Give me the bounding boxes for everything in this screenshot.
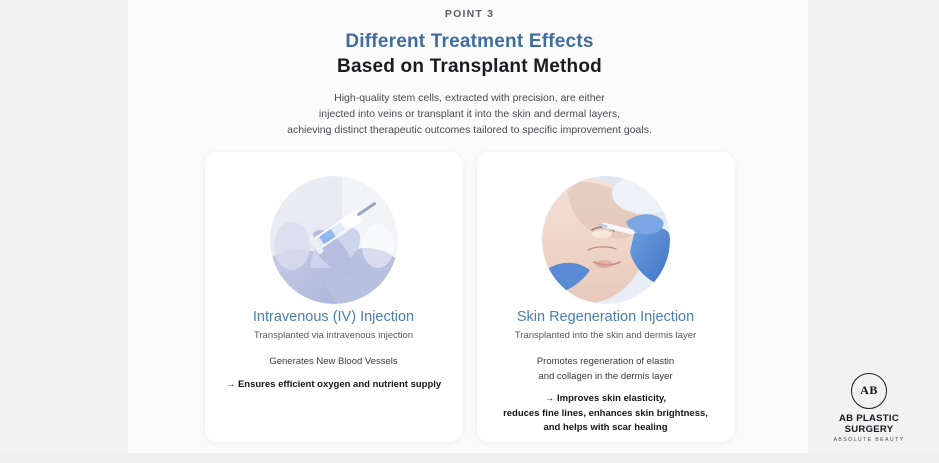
logo-name: AB PLASTIC SURGERY <box>817 413 921 435</box>
card-body-strong-line: reduces fine lines, enhances skin bright… <box>487 407 724 422</box>
card-body-strong-line: and helps with scar healing <box>487 421 724 436</box>
slide-root: POINT 3 Different Treatment Effects Base… <box>0 0 939 463</box>
card-body-strong-line: → Ensures efficient oxygen and nutrient … <box>215 378 452 393</box>
card-body-plain-line: and collagen in the dermis layer <box>487 370 724 385</box>
card-subtitle: Transplanted via intravenous injection <box>205 330 462 341</box>
card-body-strong-line: → Improves skin elasticity, <box>487 392 724 407</box>
logo-monogram-text: AB <box>852 383 886 398</box>
intro-paragraph: High-quality stem cells, extracted with … <box>0 90 939 138</box>
point-label: POINT 3 <box>0 8 939 20</box>
card-body: Generates New Blood Vessels → Ensures ef… <box>215 355 452 392</box>
title-line-1: Different Treatment Effects <box>0 31 939 53</box>
card-title: Intravenous (IV) Injection <box>205 309 462 325</box>
card-body-plain-line: Generates New Blood Vessels <box>215 355 452 370</box>
card-subtitle: Transplanted into the skin and dermis la… <box>477 330 734 341</box>
intro-line-1: High-quality stem cells, extracted with … <box>0 90 939 106</box>
intro-line-2: injected into veins or transplant it int… <box>0 106 939 122</box>
card-title: Skin Regeneration Injection <box>477 309 734 325</box>
title-line-2: Based on Transplant Method <box>0 56 939 78</box>
card-skin-regeneration-injection: Skin Regeneration Injection Transplanted… <box>477 152 734 442</box>
ab-monogram-icon: AB <box>851 373 887 409</box>
card-intravenous-injection: Intravenous (IV) Injection Transplanted … <box>205 152 462 442</box>
cards-row: Intravenous (IV) Injection Transplanted … <box>0 152 939 442</box>
card-body-plain-line: Promotes regeneration of elastin <box>487 355 724 370</box>
logo-tagline: ABSOLUTE BEAUTY <box>817 437 921 443</box>
card-body: Promotes regeneration of elastin and col… <box>487 355 724 436</box>
syringe-in-gloved-hands-photo <box>270 176 398 304</box>
facial-injection-procedure-photo <box>542 176 670 304</box>
brand-logo: AB AB PLASTIC SURGERY ABSOLUTE BEAUTY <box>817 373 921 443</box>
intro-line-3: achieving distinct therapeutic outcomes … <box>0 122 939 138</box>
bottom-band <box>0 453 939 463</box>
